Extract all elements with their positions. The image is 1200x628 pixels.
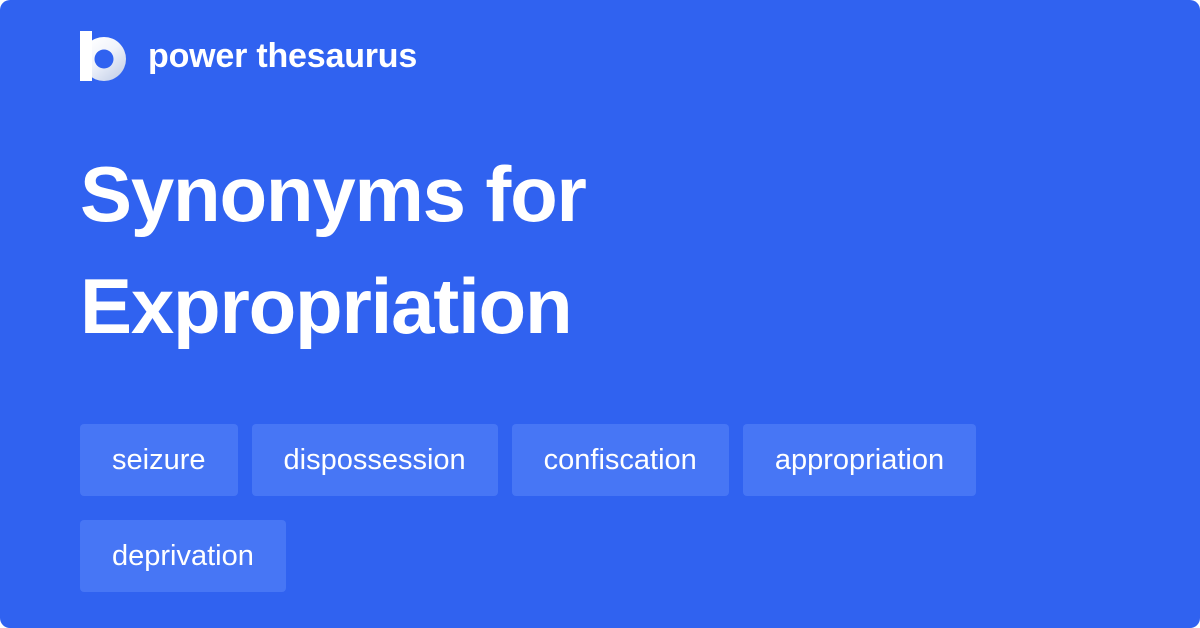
- brand-name: power thesaurus: [148, 39, 417, 73]
- synonyms-share-card: power thesaurus Synonyms for Expropriati…: [0, 0, 1200, 628]
- page-title-line-2: Expropriation: [80, 250, 1120, 362]
- power-thesaurus-b-logo-icon: [80, 31, 126, 81]
- synonym-chip[interactable]: appropriation: [743, 424, 976, 496]
- page-title: Synonyms for Expropriation: [80, 138, 1120, 362]
- brand[interactable]: power thesaurus: [80, 30, 417, 82]
- page-title-line-1: Synonyms for: [80, 138, 1120, 250]
- synonym-chip[interactable]: dispossession: [252, 424, 498, 496]
- synonym-chip[interactable]: deprivation: [80, 520, 286, 592]
- synonym-chip-list: seizure dispossession confiscation appro…: [80, 424, 1130, 592]
- synonym-chip[interactable]: confiscation: [512, 424, 729, 496]
- synonym-chip[interactable]: seizure: [80, 424, 238, 496]
